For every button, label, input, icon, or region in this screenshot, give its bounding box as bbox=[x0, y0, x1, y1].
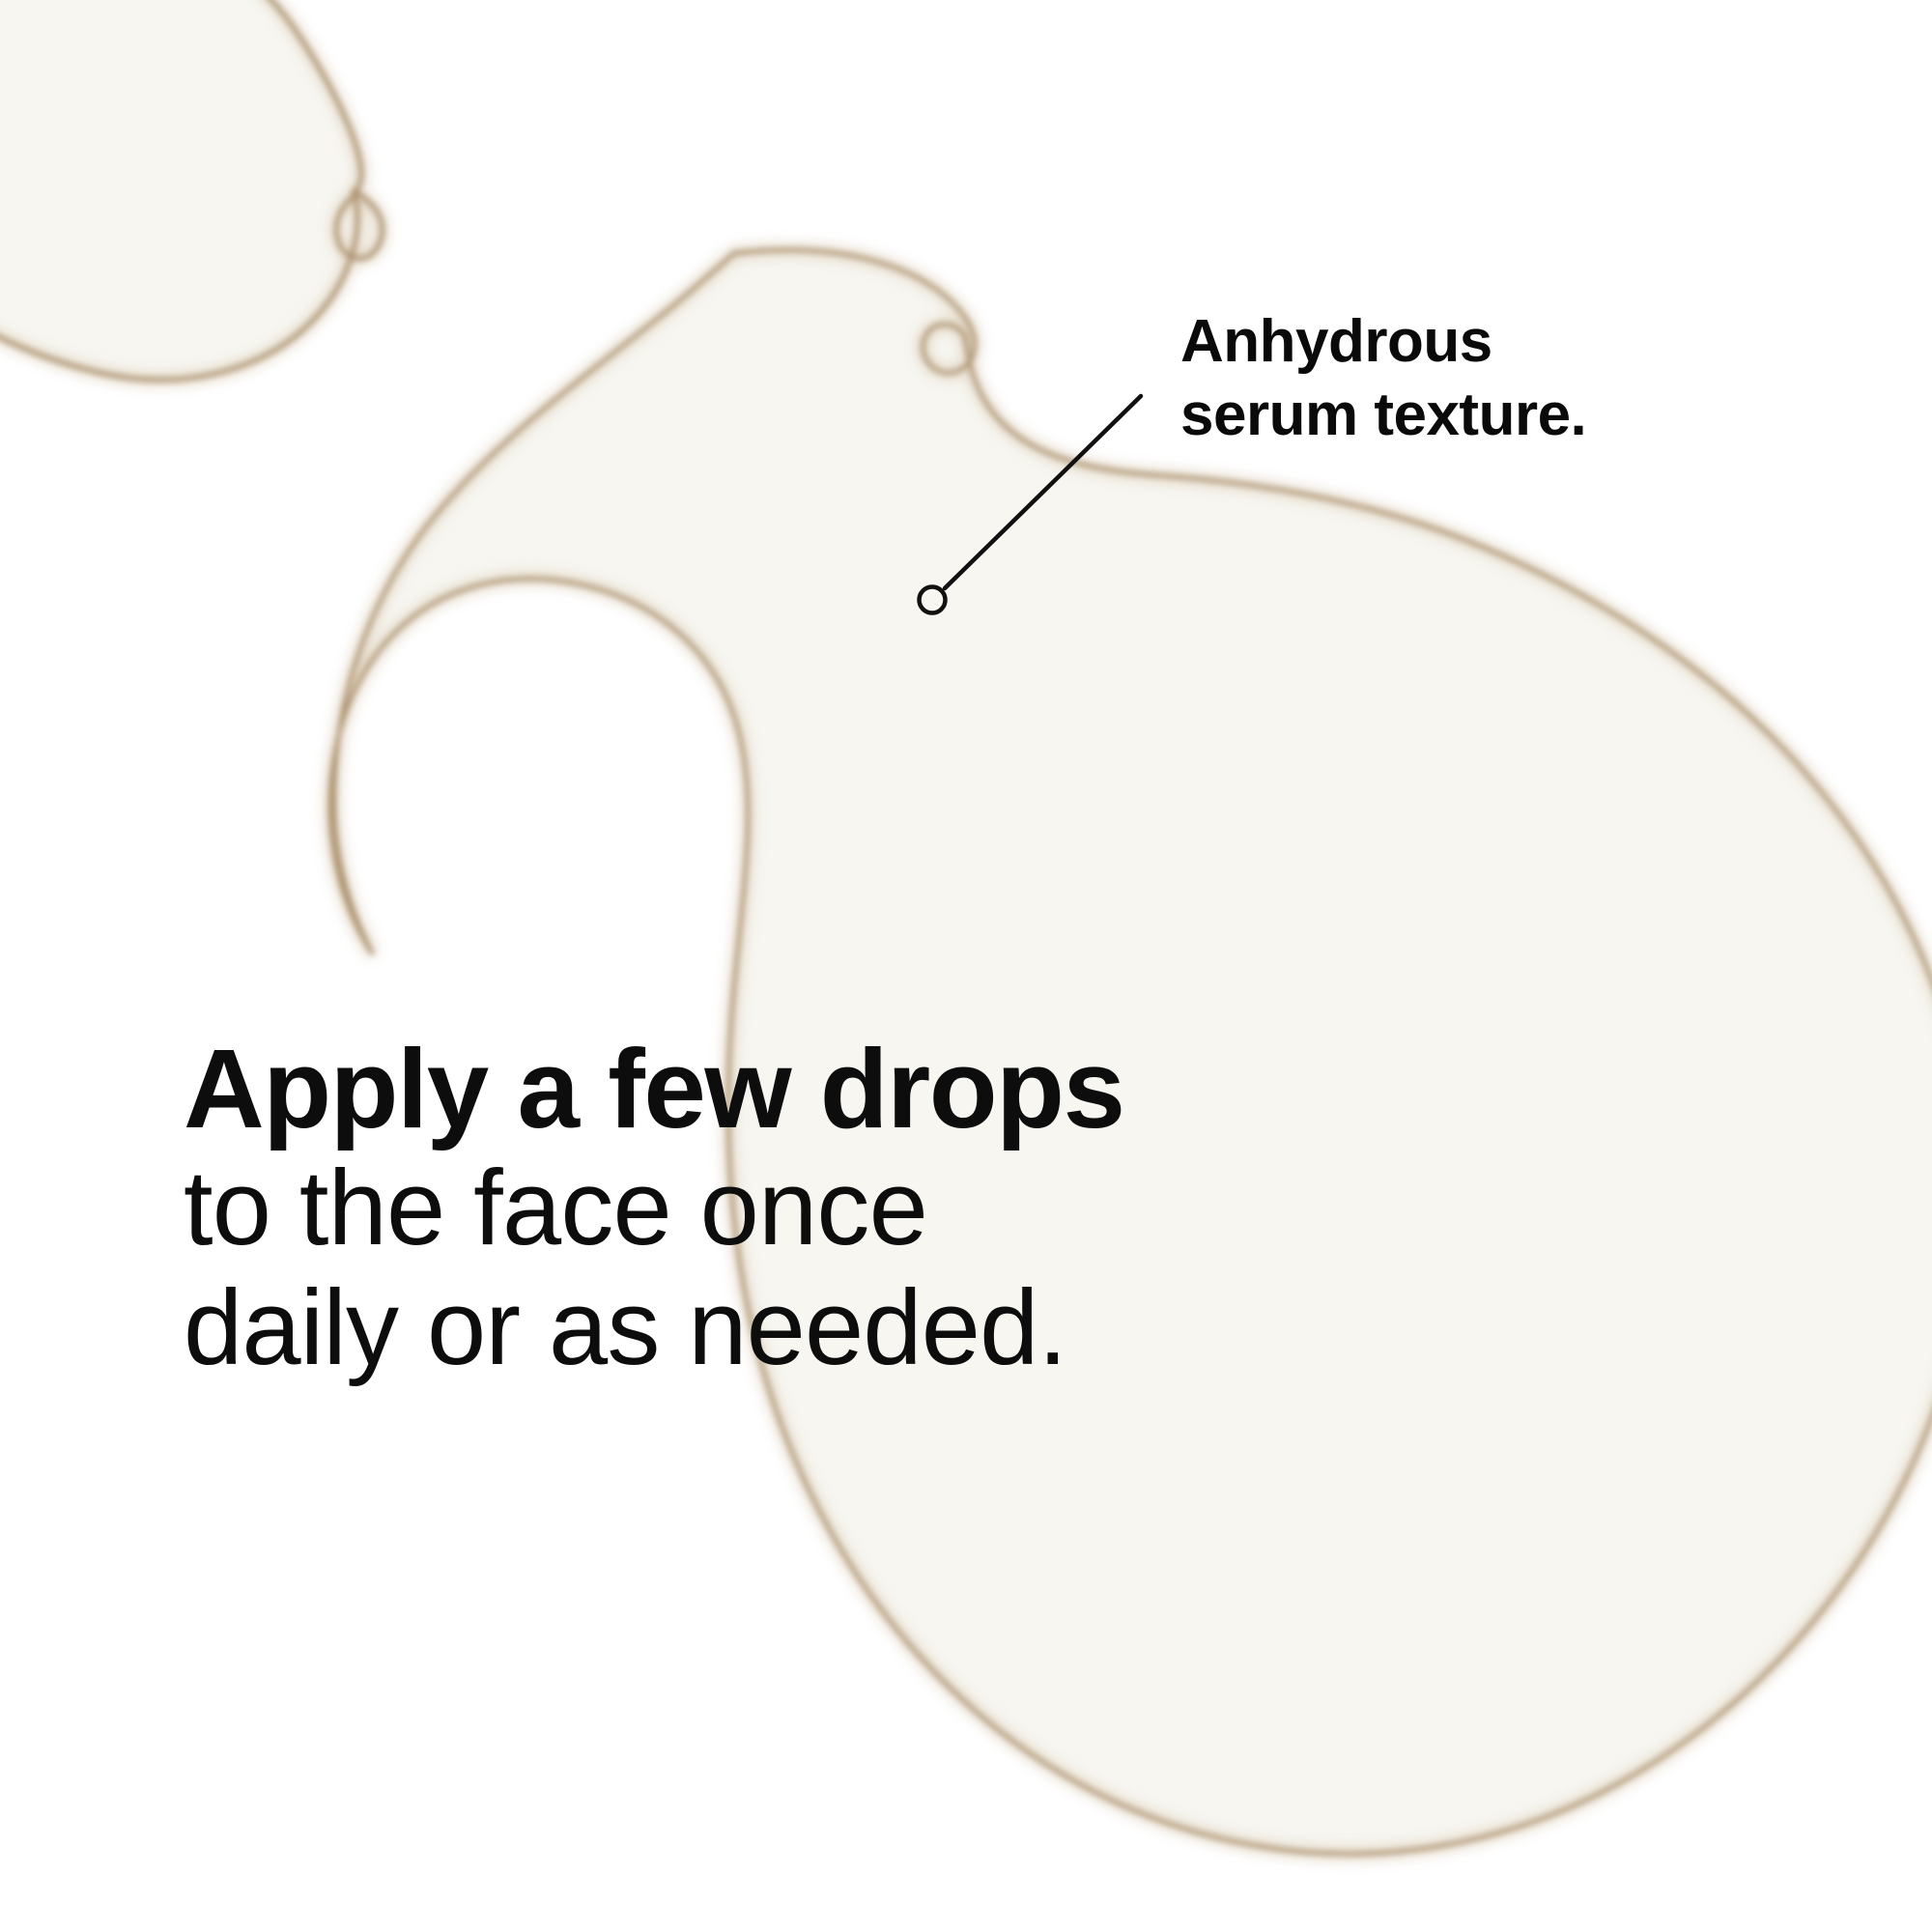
headline-line-2: to the face once bbox=[184, 1149, 1391, 1268]
headline-line-1: Apply a few drops bbox=[184, 1029, 1391, 1149]
callout-label-line-1: Anhydrous bbox=[1180, 305, 1799, 379]
headline-block: Apply a few drops to the face once daily… bbox=[184, 1029, 1391, 1388]
text-layer: Anhydrous serum texture. Apply a few dro… bbox=[0, 0, 1932, 1932]
serum-texture-poster: Anhydrous serum texture. Apply a few dro… bbox=[0, 0, 1932, 1932]
callout-label: Anhydrous serum texture. bbox=[1180, 305, 1799, 452]
callout-label-line-2: serum texture. bbox=[1180, 379, 1799, 452]
headline-line-3: daily or as needed. bbox=[184, 1268, 1391, 1388]
